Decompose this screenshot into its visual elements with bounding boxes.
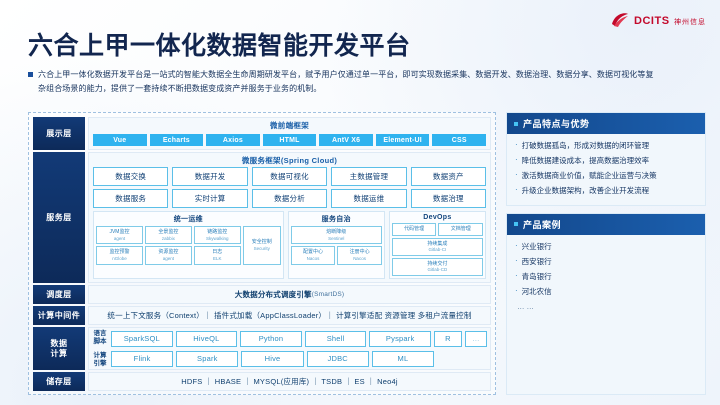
storage-content: HDFS ｜ HBASE ｜ MYSQL(应用库) ｜ TSDB ｜ ES ｜ …	[88, 372, 491, 391]
layer-data-compute: 数据 计算 语言 脚本 计算 引擎	[33, 327, 491, 370]
service-support-panels: 统一运维 JVM监控 agent 全景监	[89, 211, 490, 282]
architecture-diagram: 展示层 微前端框架 Vue Echarts Axios HTML AntV X6…	[28, 112, 496, 395]
devops-item[interactable]: 代码管理	[392, 223, 437, 236]
layer-label-schedule: 调度层	[33, 285, 85, 304]
autonomy-item[interactable]: 熔断降级 Sentinel	[291, 226, 382, 244]
tech-tag[interactable]: Axios	[206, 134, 260, 146]
autonomy-title: 服务自治	[291, 214, 382, 224]
autonomy-item-en: Nacos	[293, 256, 334, 262]
module-cell[interactable]: 数据服务	[93, 189, 168, 208]
panel-devops: DevOps 代码管理 文档管理	[389, 211, 486, 279]
module-cell[interactable]: 数据资产	[411, 167, 486, 186]
schedule-content: 大数据分布式调度引擎 (SmartDS)	[88, 285, 491, 304]
advantage-text: 激活数据商业价值，赋能企业运营与决策	[522, 171, 657, 181]
ops-item-en: zabbix	[147, 236, 190, 242]
logo-text-en: DCITS	[634, 15, 670, 27]
case-text: 青岛银行	[522, 272, 552, 282]
dot-icon: ·	[515, 171, 518, 180]
ops-security-item[interactable]: 安全控制 Security	[243, 226, 281, 265]
language-chip[interactable]: R	[434, 331, 462, 347]
unified-ops-title: 统一运维	[96, 214, 281, 224]
autonomy-item[interactable]: 配置中心 Nacos	[291, 246, 336, 264]
dot-icon: ·	[515, 242, 518, 251]
case-text: 兴业银行	[522, 242, 552, 252]
ops-item[interactable]: 全景监控 zabbix	[145, 226, 192, 244]
language-chip[interactable]: Python	[240, 331, 302, 347]
engine-chip[interactable]: Spark	[176, 351, 238, 367]
schedule-engine-name: 大数据分布式调度引擎	[235, 289, 312, 300]
devops-item-cn: 文档管理	[440, 226, 481, 233]
engine-chip[interactable]: Flink	[111, 351, 173, 367]
module-cell[interactable]: 实时计算	[172, 189, 247, 208]
list-item: · 西安银行	[515, 257, 697, 267]
list-item: · 降低数据建设成本，提高数据治理效率	[515, 156, 697, 166]
lang-label-line2: 脚本	[94, 338, 107, 345]
tech-tag[interactable]: Element-UI	[376, 134, 430, 146]
module-cell[interactable]: 数据治理	[411, 189, 486, 208]
service-content: 微服务框架(Spring Cloud) 数据交换 数据服务 数据开发 实时计算	[88, 152, 491, 283]
list-item: · 打破数据孤岛，形成对数据的闭环管理	[515, 141, 697, 151]
ops-item[interactable]: 监控预警 nGlobe	[96, 246, 143, 264]
list-item: · 激活数据商业价值，赋能企业运营与决策	[515, 171, 697, 181]
service-modules: 数据交换 数据服务 数据开发 实时计算 数据可视化 数据分析	[89, 167, 490, 211]
square-bullet-icon	[514, 222, 518, 226]
dot-icon: ·	[515, 287, 518, 296]
lang-label-line1: 语言	[94, 330, 107, 337]
layer-label-data-compute: 数据 计算	[33, 327, 85, 370]
compute-side-label-engine: 计算 引擎	[92, 352, 108, 368]
dot-icon: ·	[515, 156, 518, 165]
language-chip-more[interactable]: …	[465, 331, 487, 347]
devops-item[interactable]: 持续集成 Gitlab-CI	[392, 238, 483, 256]
ops-item-en: nGlobe	[98, 256, 141, 262]
language-chip[interactable]: Pyspark	[369, 331, 431, 347]
module-cell[interactable]: 数据分析	[252, 189, 327, 208]
brand-logo: DCITS 神州信息	[610, 10, 706, 30]
ops-item-en: agent	[98, 236, 141, 242]
engine-label-line1: 计算	[94, 352, 107, 359]
dot-icon: ·	[515, 141, 518, 150]
cases-list: · 兴业银行 · 西安银行 · 青岛银行 · 河北农信 …	[507, 235, 705, 320]
devops-item-cn: 代码管理	[394, 226, 435, 233]
engine-chip-row: Flink Spark Hive JDBC ML	[111, 351, 487, 367]
frontend-tech-tags: Vue Echarts Axios HTML AntV X6 Element-U…	[89, 132, 490, 149]
logo-text-cn: 神州信息	[674, 19, 706, 26]
ops-item-en: agent	[147, 256, 190, 262]
ops-item-en: ELK	[196, 256, 239, 262]
tech-tag[interactable]: Echarts	[150, 134, 204, 146]
layer-label-line2: 计算	[51, 349, 68, 358]
layer-presentation: 展示层 微前端框架 Vue Echarts Axios HTML AntV X6…	[33, 117, 491, 150]
module-cell[interactable]: 数据交换	[93, 167, 168, 186]
devops-item-en: Gitlab-CI	[394, 247, 481, 253]
layer-label-service: 服务层	[33, 152, 85, 283]
middleware-content: 统一上下文服务（Context）｜ 插件式加载（AppClassLoader）｜…	[88, 306, 491, 325]
ops-item-en: Skywalking	[196, 236, 239, 242]
engine-chip[interactable]: ML	[372, 351, 434, 367]
engine-label-line2: 引擎	[94, 360, 107, 367]
slide-root: DCITS 神州信息 六合上甲一体化数据智能开发平台 六合上甲一体化数据开发平台…	[0, 0, 720, 405]
data-compute-content: 语言 脚本 计算 引擎 SparkSQL HiveQL Python	[88, 327, 491, 370]
language-chip[interactable]: SparkSQL	[111, 331, 173, 347]
square-bullet-icon	[514, 122, 518, 126]
advantage-text: 打破数据孤岛，形成对数据的闭环管理	[522, 141, 650, 151]
advantage-text: 降低数据建设成本，提高数据治理效率	[522, 156, 650, 166]
layer-storage: 储存层 HDFS ｜ HBASE ｜ MYSQL(应用库) ｜ TSDB ｜ E…	[33, 372, 491, 391]
ops-item[interactable]: 资源监控 agent	[145, 246, 192, 264]
case-text: 河北农信	[522, 287, 552, 297]
presentation-content: 微前端框架 Vue Echarts Axios HTML AntV X6 Ele…	[88, 117, 491, 150]
cases-more: ……	[515, 302, 697, 311]
layer-schedule: 调度层 大数据分布式调度引擎 (SmartDS)	[33, 285, 491, 304]
compute-side-label-language: 语言 脚本	[92, 330, 108, 346]
layer-label-storage: 储存层	[33, 372, 85, 391]
list-item: · 青岛银行	[515, 272, 697, 282]
card-advantages: 产品特点与优势 · 打破数据孤岛，形成对数据的闭环管理 · 降低数据建设成本，提…	[506, 112, 706, 206]
schedule-engine-code: (SmartDS)	[312, 291, 345, 298]
advantages-header: 产品特点与优势	[507, 113, 705, 134]
engine-chip[interactable]: JDBC	[307, 351, 369, 367]
ops-item[interactable]: 链路监控 Skywalking	[194, 226, 241, 244]
language-chip[interactable]: Shell	[305, 331, 367, 347]
dcits-swoosh-icon	[610, 10, 630, 30]
module-cell[interactable]: 数据可视化	[252, 167, 327, 186]
dot-icon: ·	[515, 272, 518, 281]
dot-icon: ·	[515, 186, 518, 195]
module-cell[interactable]: 数据运维	[331, 189, 406, 208]
advantages-title: 产品特点与优势	[523, 117, 590, 130]
devops-item[interactable]: 文档管理	[438, 223, 483, 236]
layer-label-presentation: 展示层	[33, 117, 85, 150]
panel-unified-ops: 统一运维 JVM监控 agent 全景监	[93, 211, 284, 279]
side-panel: 产品特点与优势 · 打破数据孤岛，形成对数据的闭环管理 · 降低数据建设成本，提…	[506, 112, 706, 395]
bullet-square-icon	[28, 72, 33, 77]
list-item: · 升级企业数据架构，改善企业开发流程	[515, 186, 697, 196]
list-item: · 河北农信	[515, 287, 697, 297]
panel-service-autonomy: 服务自治 熔断降级 Sentinel 配置中心 Nacos	[288, 211, 385, 279]
intro-text: 六合上甲一体化数据开发平台是一站式的智能大数据全生命周期研发平台，赋予用户仅通过…	[38, 68, 658, 96]
layer-middleware: 计算中间件 统一上下文服务（Context）｜ 插件式加载（AppClassLo…	[33, 306, 491, 325]
tech-tag[interactable]: AntV X6	[319, 134, 373, 146]
card-cases: 产品案例 · 兴业银行 · 西安银行 · 青岛银行	[506, 213, 706, 396]
list-item: · 兴业银行	[515, 242, 697, 252]
page-title: 六合上甲一体化数据智能开发平台	[28, 26, 411, 62]
autonomy-item[interactable]: 注册中心 Nacos	[337, 246, 382, 264]
language-chip-row: SparkSQL HiveQL Python Shell Pyspark R …	[111, 331, 487, 347]
ops-item[interactable]: JVM监控 agent	[96, 226, 143, 244]
tech-tag[interactable]: Vue	[93, 134, 147, 146]
layer-label-line1: 数据	[51, 339, 68, 348]
case-text: 西安银行	[522, 257, 552, 267]
autonomy-item-en: Sentinel	[293, 236, 380, 242]
intro-paragraph: 六合上甲一体化数据开发平台是一站式的智能大数据全生命周期研发平台，赋予用户仅通过…	[28, 68, 658, 96]
devops-item[interactable]: 持续交付 Gitlab-CD	[392, 258, 483, 276]
advantage-text: 升级企业数据架构，改善企业开发流程	[522, 186, 650, 196]
layer-service: 服务层 微服务框架(Spring Cloud) 数据交换 数据服务 数据开发 实…	[33, 152, 491, 283]
autonomy-item-en: Nacos	[339, 256, 380, 262]
module-cell[interactable]: 主数据管理	[331, 167, 406, 186]
devops-item-en: Gitlab-CD	[394, 267, 481, 273]
module-cell[interactable]: 数据开发	[172, 167, 247, 186]
devops-title: DevOps	[392, 214, 483, 221]
microservice-framework-title: 微服务框架(Spring Cloud)	[89, 153, 490, 167]
cases-header: 产品案例	[507, 214, 705, 235]
dot-icon: ·	[515, 257, 518, 266]
advantages-list: · 打破数据孤岛，形成对数据的闭环管理 · 降低数据建设成本，提高数据治理效率 …	[507, 134, 705, 205]
micro-frontend-title: 微前端框架	[89, 118, 490, 132]
ops-item[interactable]: 日志 ELK	[194, 246, 241, 264]
language-chip[interactable]: HiveQL	[176, 331, 238, 347]
tech-tag[interactable]: CSS	[432, 134, 486, 146]
cases-title: 产品案例	[523, 218, 561, 231]
tech-tag[interactable]: HTML	[263, 134, 317, 146]
engine-chip[interactable]: Hive	[241, 351, 303, 367]
layer-label-middleware: 计算中间件	[33, 306, 85, 325]
ops-security-en: Security	[254, 246, 270, 252]
